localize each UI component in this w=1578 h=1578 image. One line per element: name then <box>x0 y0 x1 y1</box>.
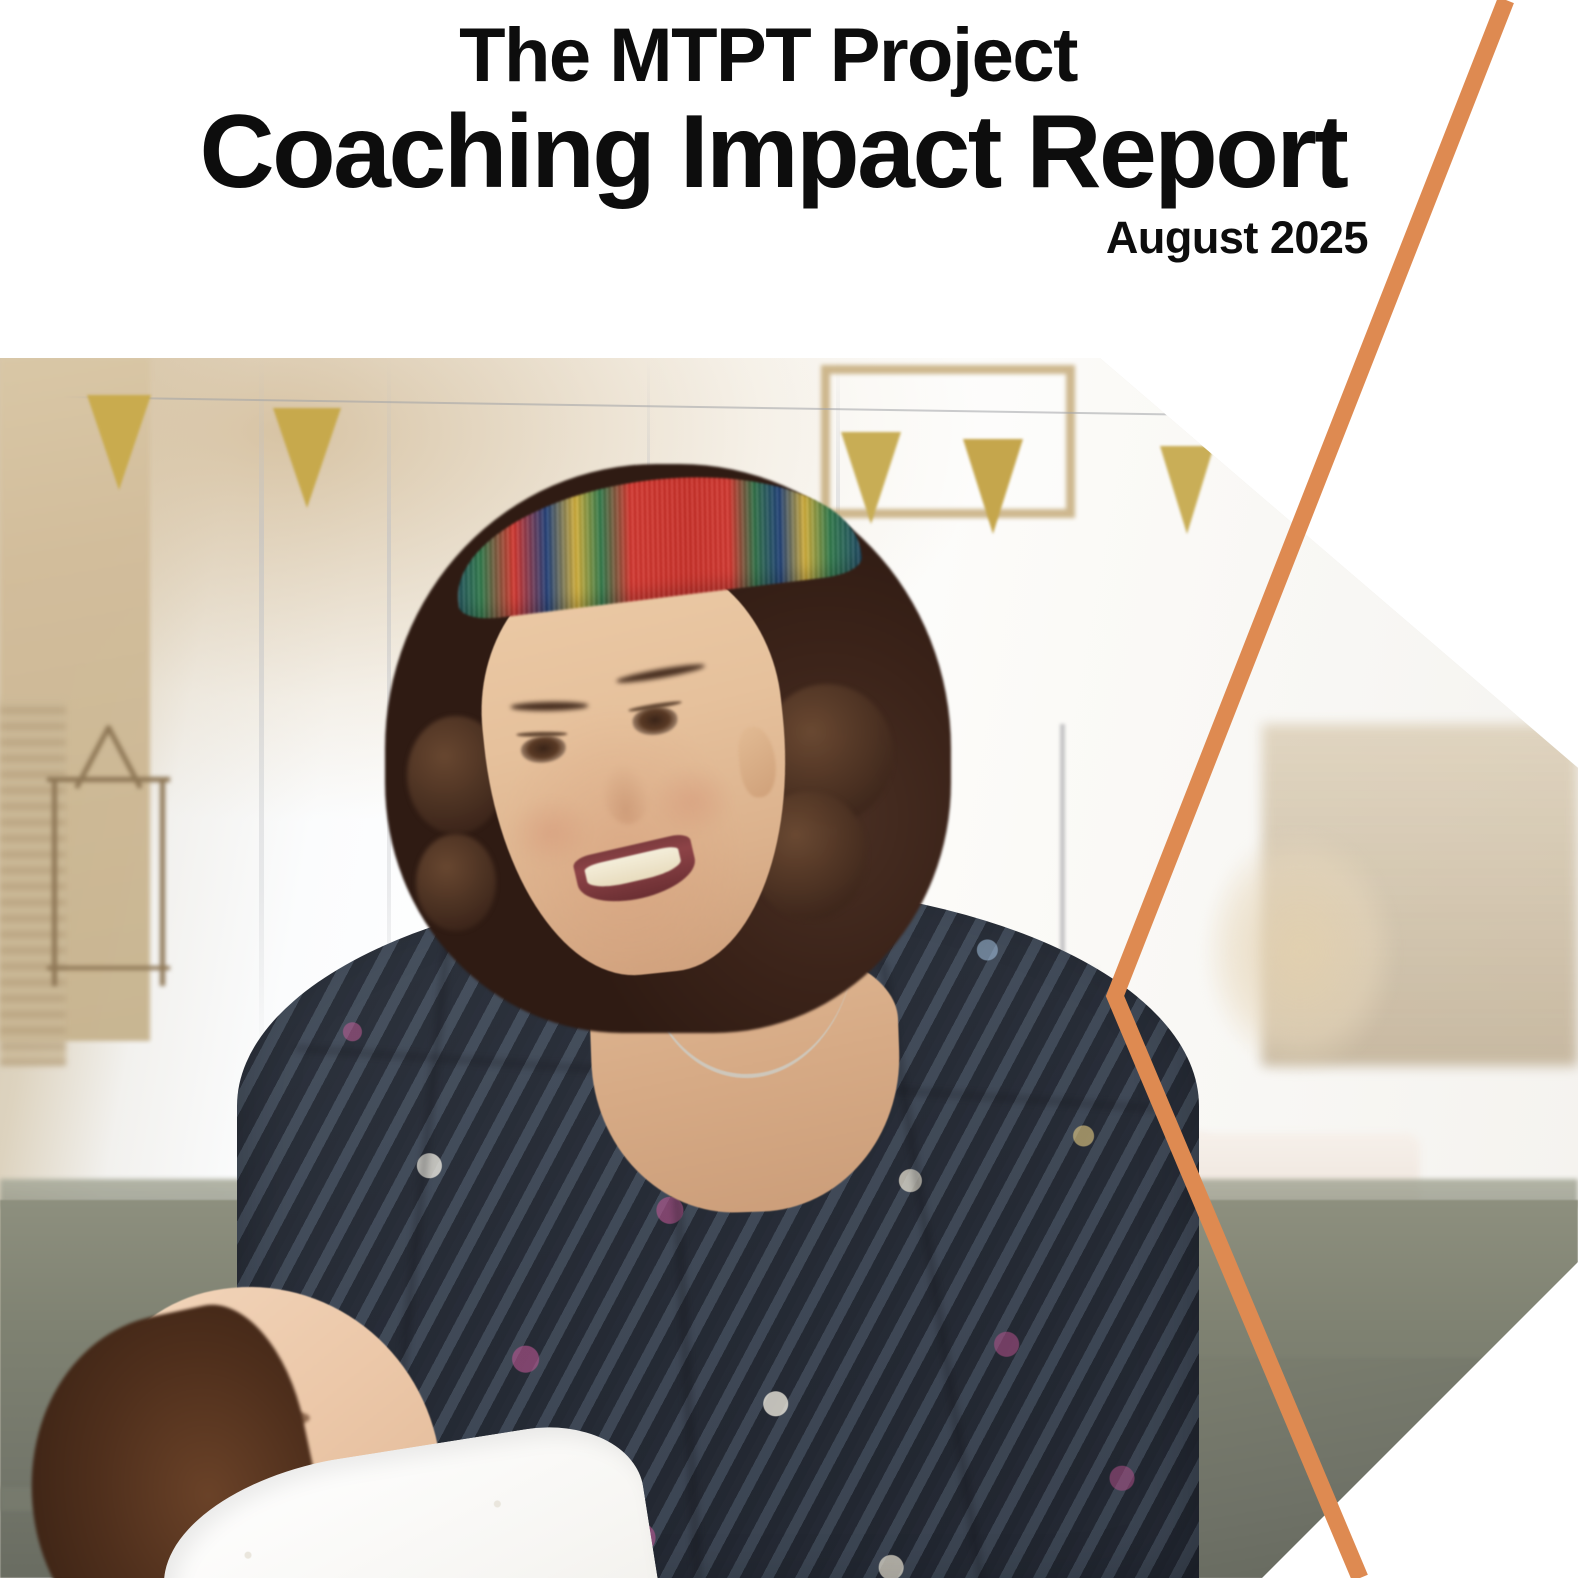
report-date: August 2025 <box>188 210 1368 266</box>
eye-left <box>520 734 568 765</box>
nose <box>601 764 652 827</box>
mouth <box>572 832 701 912</box>
report-subtitle-line: The MTPT Project <box>188 18 1368 94</box>
teeth <box>583 845 683 892</box>
page-title: Coaching Impact Report <box>188 94 1368 210</box>
report-cover-page: The MTPT Project Coaching Impact Report … <box>0 0 1578 1578</box>
baby-subject <box>32 1285 600 1578</box>
header-band: The MTPT Project Coaching Impact Report … <box>0 0 1578 358</box>
ear <box>736 725 779 800</box>
title-block: The MTPT Project Coaching Impact Report … <box>188 18 1368 267</box>
cover-photo <box>0 358 1578 1578</box>
room-background <box>0 358 1578 1578</box>
head <box>434 480 876 1017</box>
